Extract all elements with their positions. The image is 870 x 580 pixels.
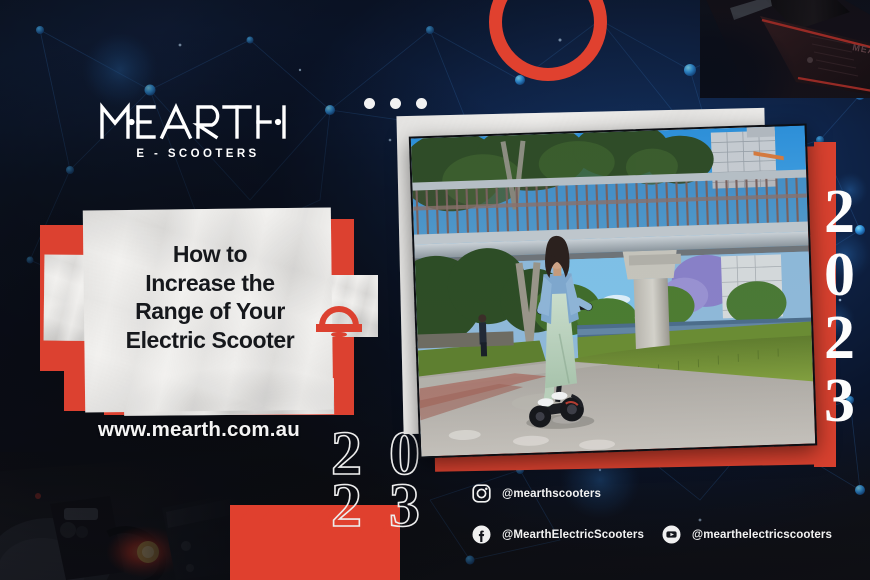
- year-digit: 2: [331, 480, 363, 532]
- year-digit: 2: [824, 181, 870, 244]
- social-item-youtube[interactable]: @mearthelectricscooters: [662, 525, 832, 544]
- headline-text: How to Increase the Range of Your Electr…: [36, 240, 384, 354]
- headline-line-1: How to: [36, 240, 384, 269]
- headline-line-2: Increase the: [36, 269, 384, 298]
- website-url[interactable]: www.mearth.com.au: [98, 418, 300, 442]
- hero-photo: [409, 123, 817, 458]
- facebook-icon[interactable]: [472, 525, 491, 544]
- instagram-handle[interactable]: @mearthscooters: [502, 488, 601, 500]
- headline-line-4: Electric Scooter: [36, 326, 384, 355]
- social-item-facebook[interactable]: @MearthElectricScooters: [472, 525, 651, 544]
- headline-line-3: Range of Your: [36, 297, 384, 326]
- social-links: @mearthscooters @MearthElectricScooters …: [472, 484, 832, 544]
- promo-graphic-canvas: MEARTH: [0, 0, 870, 580]
- social-row-instagram: @mearthscooters: [472, 484, 832, 503]
- year-digit: 2: [824, 307, 870, 370]
- year-digit: 3: [389, 480, 421, 532]
- youtube-handle[interactable]: @mearthelectricscooters: [692, 529, 832, 541]
- year-digit: 3: [824, 370, 870, 433]
- brand-logo: E - SCOOTERS: [98, 101, 298, 160]
- mearth-wordmark-icon: [98, 101, 298, 141]
- instagram-icon[interactable]: [472, 484, 491, 503]
- youtube-icon[interactable]: [662, 525, 681, 544]
- social-row-facebook-youtube: @MearthElectricScooters @mearthelectrics…: [472, 525, 832, 544]
- hero-photo-block: [392, 104, 834, 474]
- social-item-instagram[interactable]: @mearthscooters: [472, 484, 601, 503]
- year-vertical-2023: 2 0 2 3: [824, 181, 870, 433]
- brand-tagline: E - SCOOTERS: [98, 148, 298, 160]
- year-digit: 0: [824, 244, 870, 307]
- facebook-handle[interactable]: @MearthElectricScooters: [502, 529, 644, 541]
